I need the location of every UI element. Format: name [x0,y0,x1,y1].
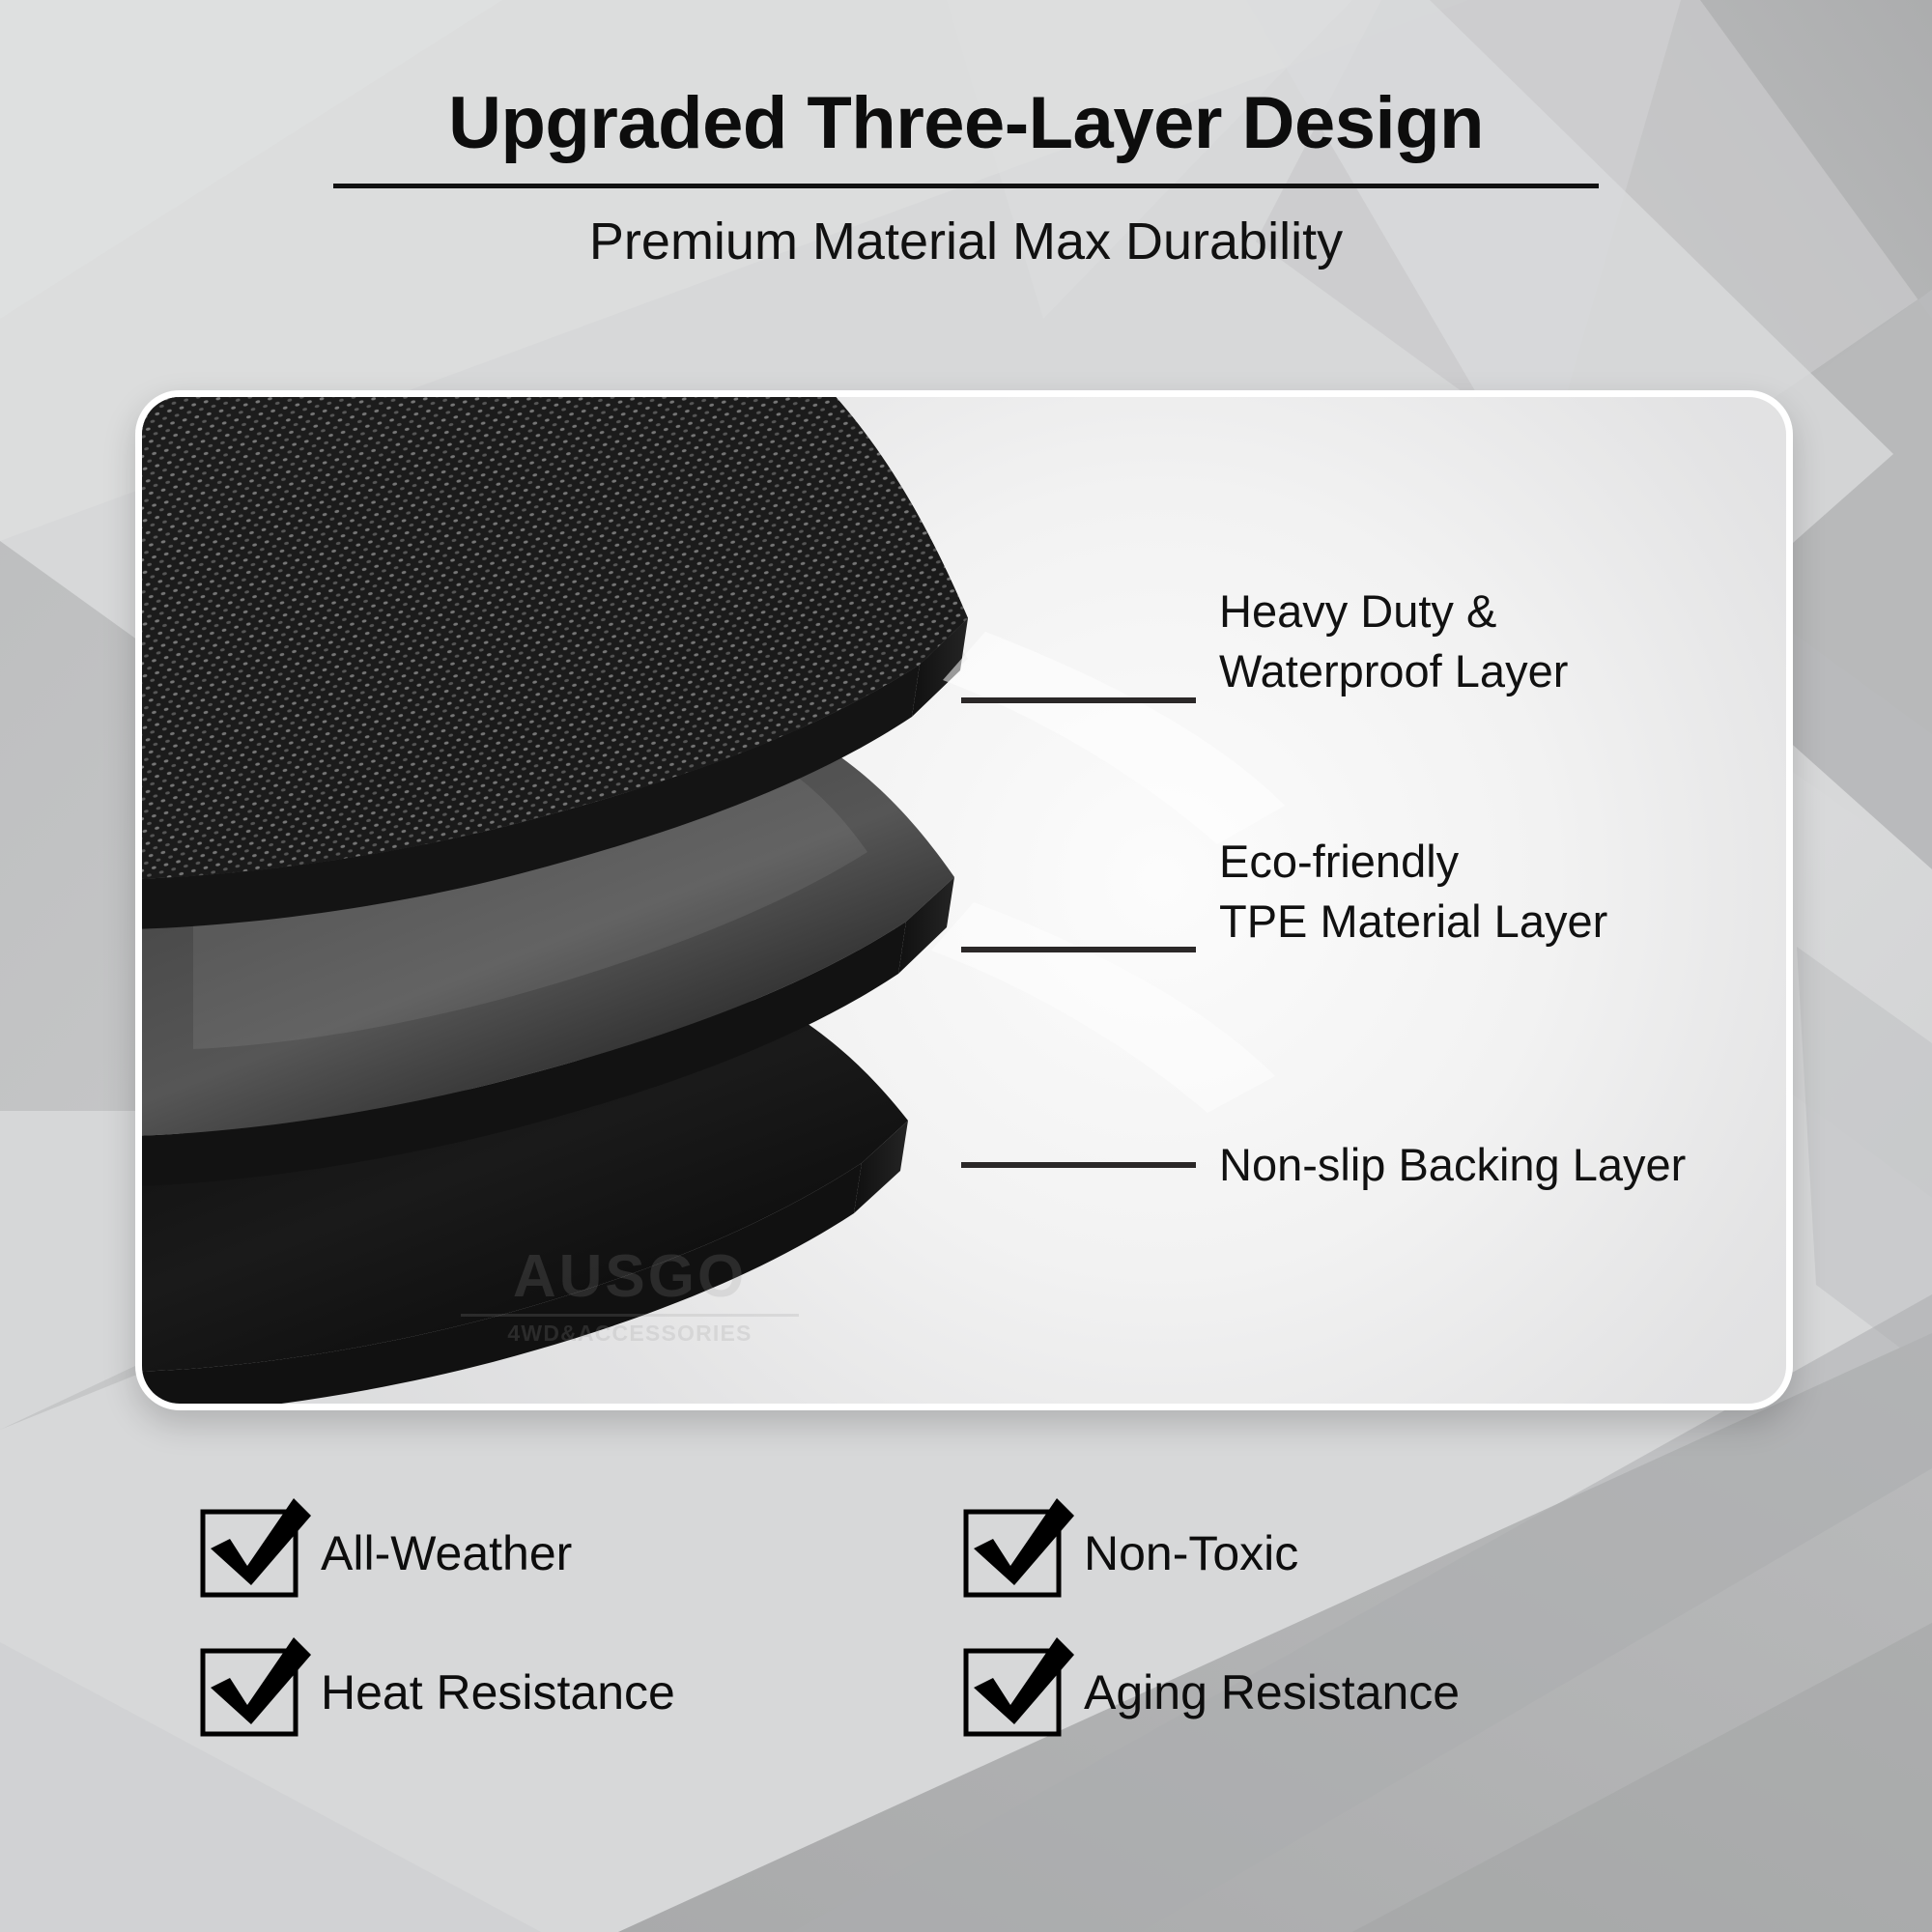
callout-non-slip-backing-layer: Non-slip Backing Layer [961,1135,1686,1196]
checkbox-checked-icon [966,1512,1059,1595]
leader-line [961,697,1196,703]
callout-label: Non-slip Backing Layer [1219,1135,1686,1196]
feature-item-heat-resistance: Heat Resistance [203,1651,966,1734]
page-subtitle: Premium Material Max Durability [0,188,1932,270]
feature-checklist: All-Weather Non-Toxic Heat Resistance Ag… [0,1512,1932,1734]
callout-heavy-duty-waterproof-layer: Heavy Duty & Waterproof Layer [961,580,1568,703]
callout-label: Heavy Duty & Waterproof Layer [1219,582,1568,702]
page-title: Upgraded Three-Layer Design [0,0,1932,162]
checkbox-checked-icon [203,1512,296,1595]
feature-item-aging-resistance: Aging Resistance [966,1651,1729,1734]
leader-line [961,947,1196,952]
feature-item-non-toxic: Non-Toxic [966,1512,1729,1595]
header: Upgraded Three-Layer Design Premium Mate… [0,0,1932,270]
feature-label: Heat Resistance [321,1668,675,1717]
feature-label: All-Weather [321,1529,572,1577]
checkbox-checked-icon [203,1651,296,1734]
feature-item-all-weather: All-Weather [203,1512,966,1595]
checkbox-checked-icon [966,1651,1059,1734]
feature-label: Aging Resistance [1084,1668,1460,1717]
callout-label: Eco-friendly TPE Material Layer [1219,832,1607,952]
callout-eco-friendly-tpe-material-layer: Eco-friendly TPE Material Layer [961,831,1607,952]
leader-line [961,1162,1196,1168]
feature-label: Non-Toxic [1084,1529,1298,1577]
